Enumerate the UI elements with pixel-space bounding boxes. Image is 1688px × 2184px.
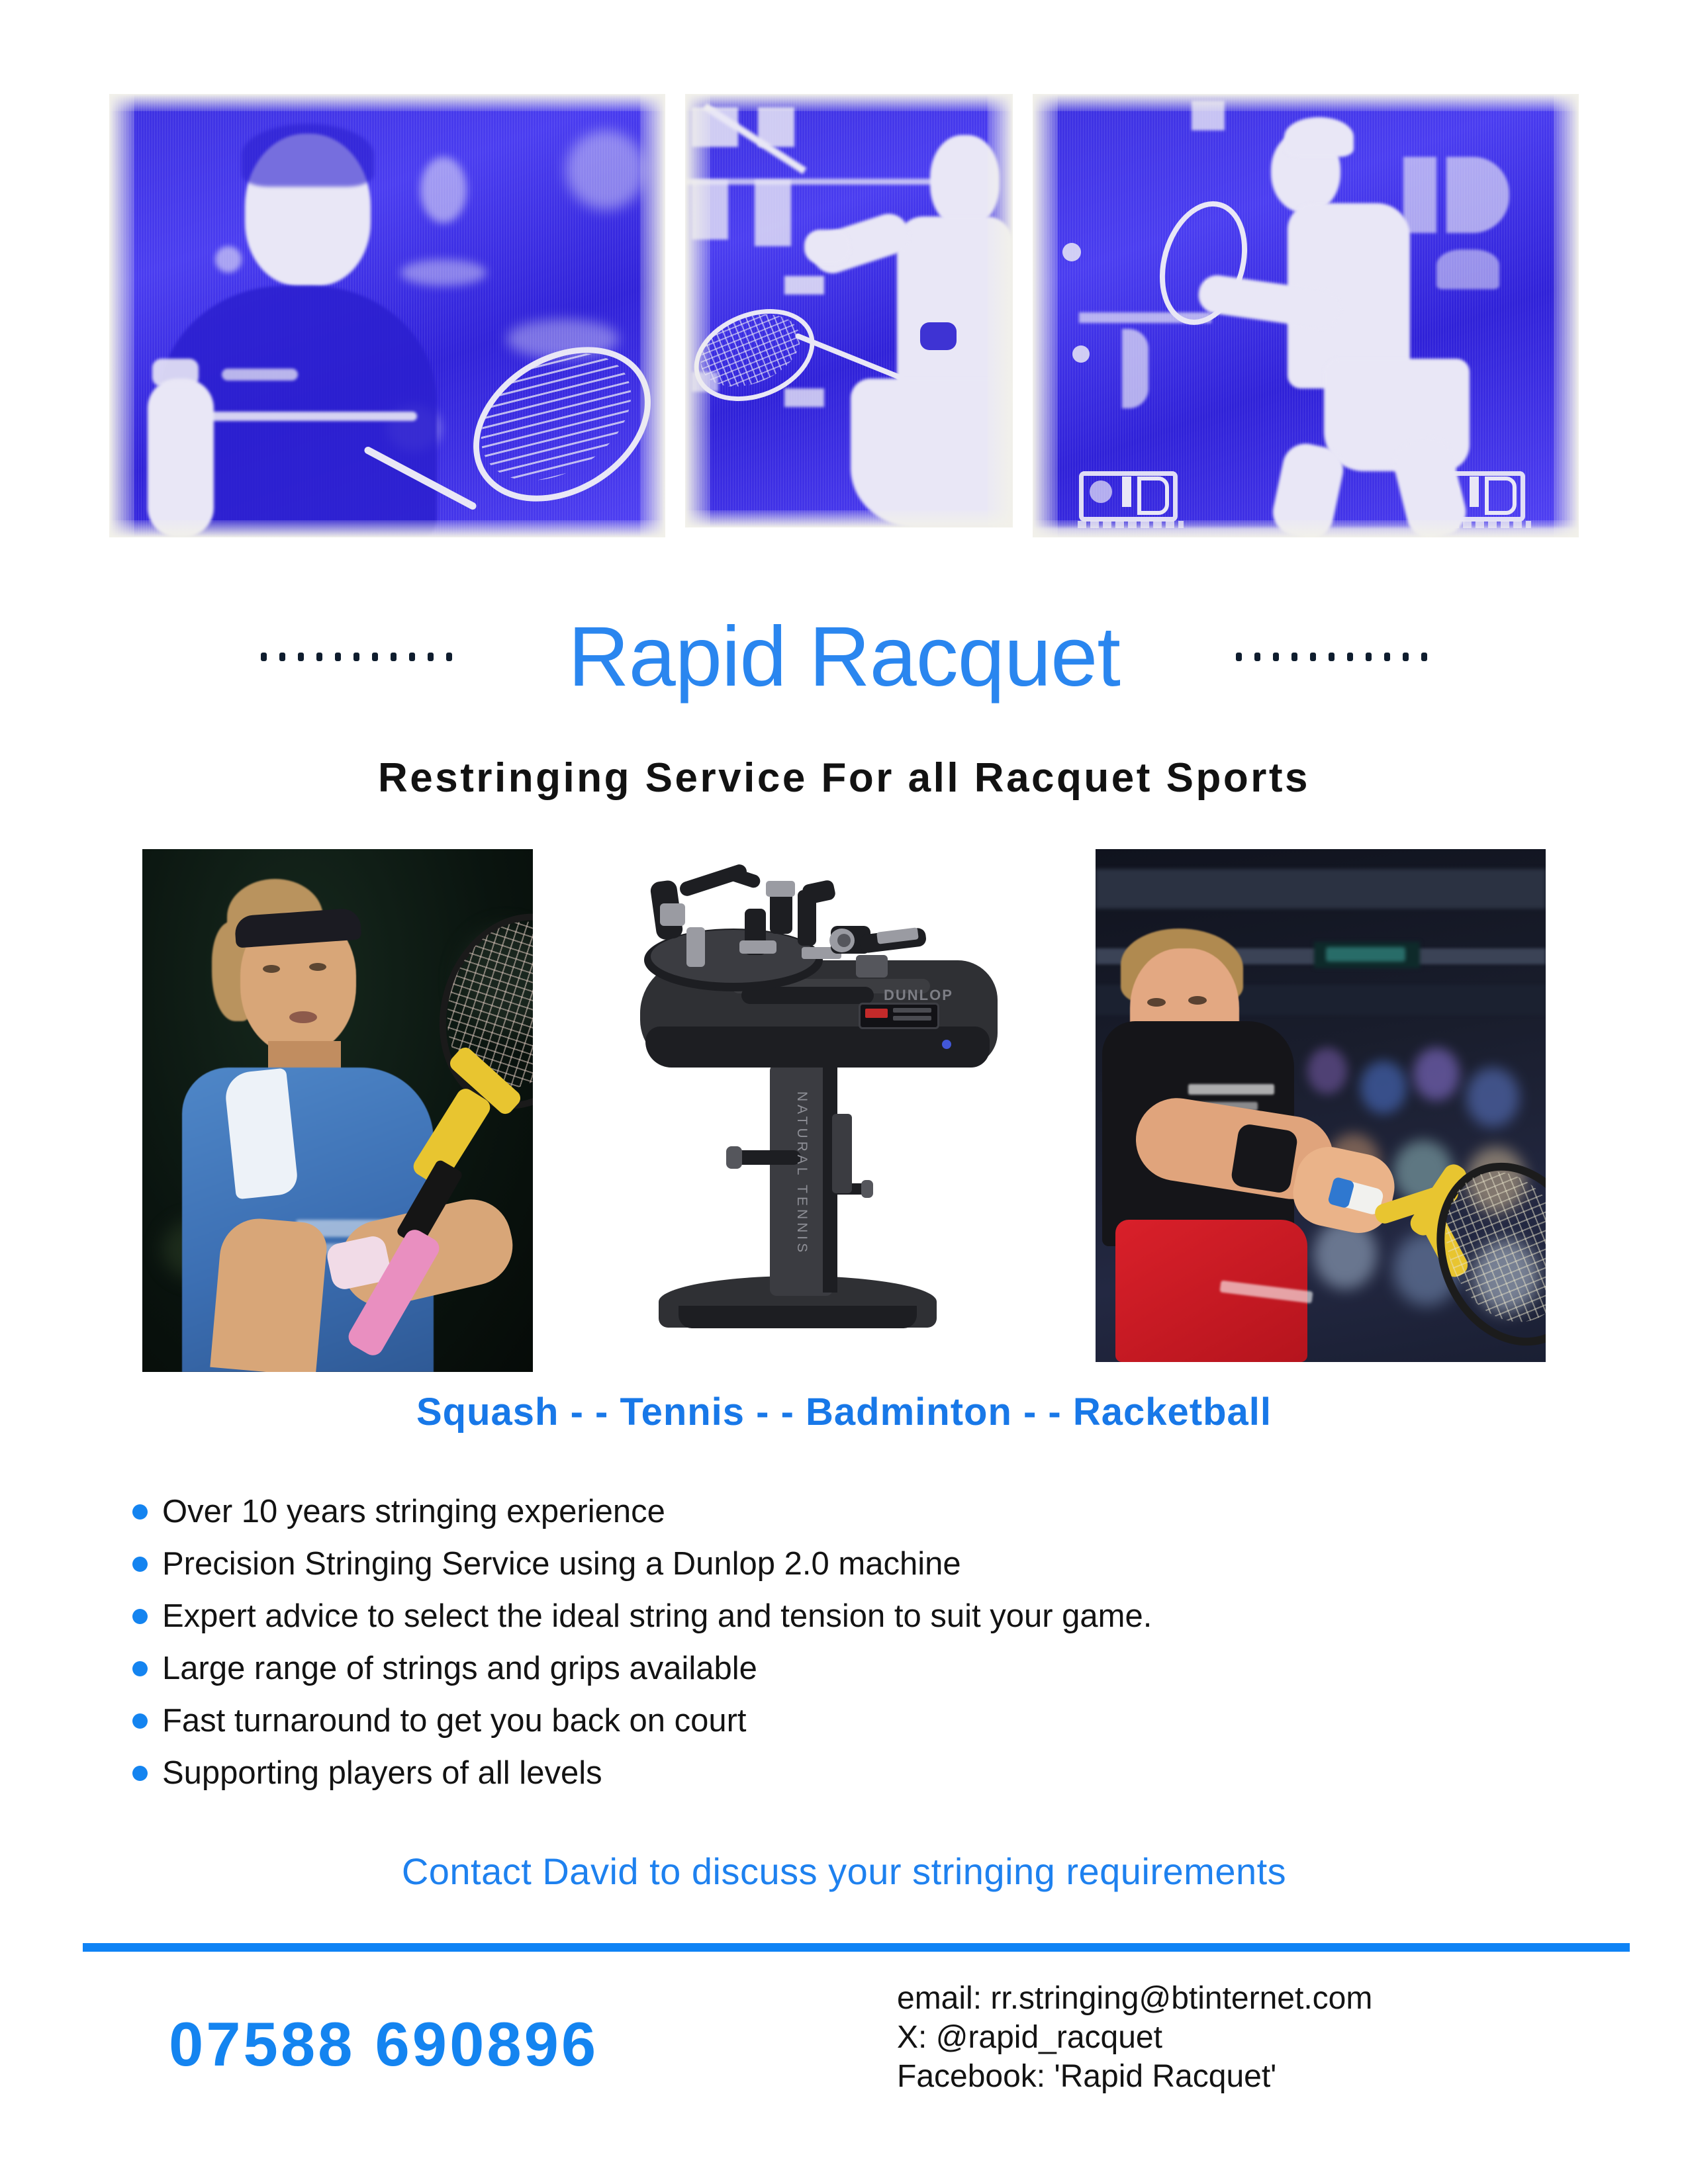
top-banner [0, 94, 1688, 537]
x-handle-line[interactable]: X: @rapid_racquet [897, 2018, 1625, 2057]
photo-female-squash-player [142, 849, 533, 1372]
bullet-dot-icon [132, 1609, 148, 1624]
email-line[interactable]: email: rr.stringing@btinternet.com [897, 1979, 1625, 2018]
logo-row: Rapid Racquet [0, 596, 1688, 718]
list-item: Fast turnaround to get you back on court [132, 1695, 1556, 1747]
photo-stringing-machine: NATURAL TENNIS DUNLOP [612, 849, 1016, 1339]
banner-photo-male-squash [109, 94, 665, 537]
facebook-line[interactable]: Facebook: 'Rapid Racquet' [897, 2057, 1625, 2096]
bullet-dot-icon [132, 1661, 148, 1676]
list-item: Precision Stringing Service using a Dunl… [132, 1538, 1556, 1590]
photo-male-squash-player [1096, 849, 1546, 1362]
dotted-rule-left-icon [244, 653, 469, 662]
features-list: Over 10 years stringing experience Preci… [132, 1486, 1556, 1799]
contact-details: email: rr.stringing@btinternet.com X: @r… [897, 1979, 1625, 2096]
list-item-label: Large range of strings and grips availab… [162, 1653, 757, 1685]
machine-column-label: NATURAL TENNIS [794, 1091, 810, 1255]
photo-row: NATURAL TENNIS DUNLOP [0, 849, 1688, 1372]
dotted-rule-right-icon [1219, 653, 1444, 662]
contact-cta: Contact David to discuss your stringing … [0, 1850, 1688, 1893]
bullet-dot-icon [132, 1713, 148, 1729]
brand-tagline: Restringing Service For all Racquet Spor… [0, 754, 1688, 801]
banner-photo-female-badminton [685, 94, 1013, 527]
list-item: Expert advice to select the ideal string… [132, 1590, 1556, 1643]
list-item-label: Fast turnaround to get you back on court [162, 1705, 747, 1737]
list-item: Supporting players of all levels [132, 1747, 1556, 1799]
sports-list: Squash - - Tennis - - Badminton - - Rack… [0, 1390, 1688, 1434]
list-item-label: Supporting players of all levels [162, 1757, 602, 1790]
machine-brand-label: DUNLOP [884, 987, 953, 1004]
brand-title: Rapid Racquet [568, 615, 1120, 700]
footer: 07588 690896 email: rr.stringing@btinter… [0, 1969, 1688, 2141]
list-item: Over 10 years stringing experience [132, 1486, 1556, 1538]
bullet-dot-icon [132, 1504, 148, 1520]
bullet-dot-icon [132, 1766, 148, 1781]
phone-number[interactable]: 07588 690896 [169, 2009, 598, 2080]
list-item-label: Over 10 years stringing experience [162, 1496, 665, 1528]
banner-photo-female-squash [1033, 94, 1579, 537]
list-item-label: Expert advice to select the ideal string… [162, 1600, 1152, 1633]
bullet-dot-icon [132, 1557, 148, 1572]
list-item-label: Precision Stringing Service using a Dunl… [162, 1548, 961, 1580]
footer-divider [83, 1943, 1630, 1952]
list-item: Large range of strings and grips availab… [132, 1643, 1556, 1695]
